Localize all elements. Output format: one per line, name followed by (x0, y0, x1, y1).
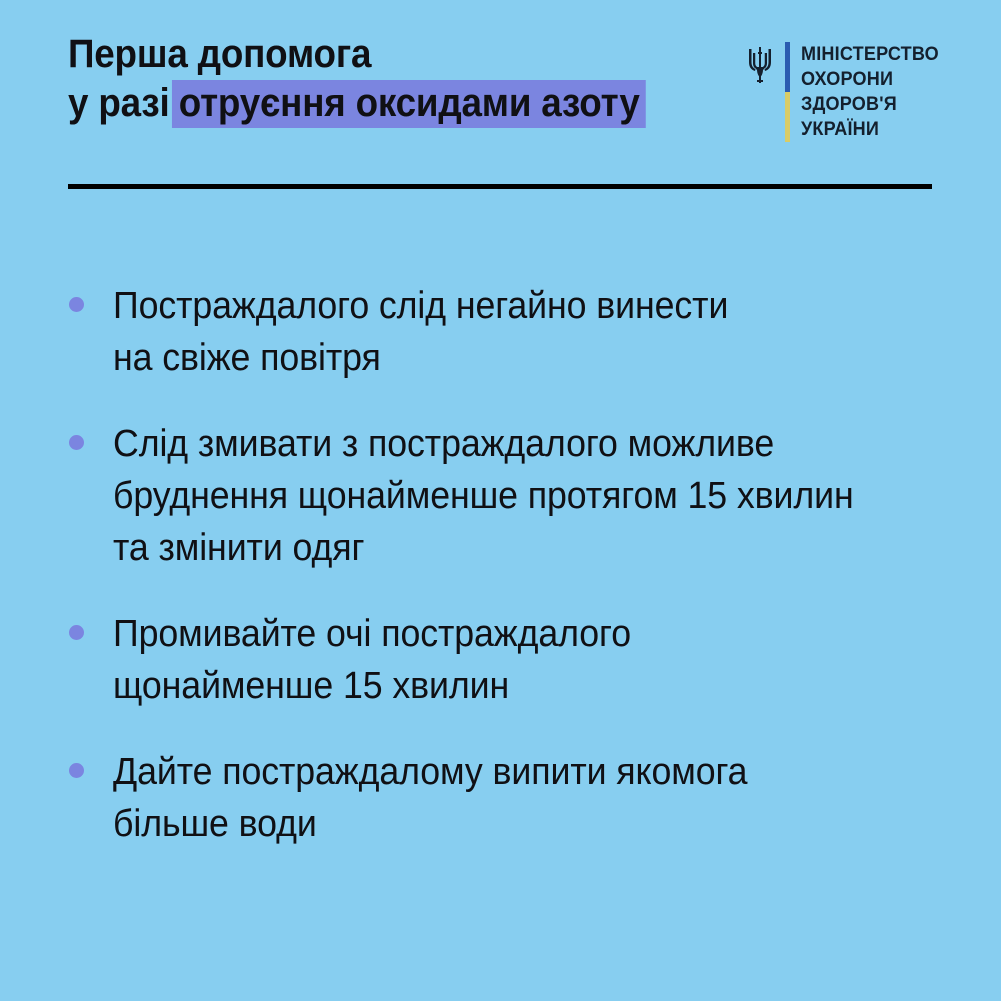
list-item-text: Слід змивати з постраждалого можливе бру… (113, 418, 948, 574)
list-item: Слід змивати з постраждалого можливе бру… (0, 418, 1001, 574)
list-item: Дайте постраждалому випити якомога більш… (0, 746, 1001, 850)
bullet-dot-icon (69, 763, 84, 778)
bullet-dot-icon (69, 435, 84, 450)
advice-list: Постраждалого слід негайно винести на св… (0, 280, 1001, 884)
ministry-name: МІНІСТЕРСТВО ОХОРОНИ ЗДОРОВ'Я УКРАЇНИ (801, 42, 939, 142)
title-line-2: у разіотруєння оксидами азоту (68, 79, 694, 128)
title-line-2-prefix: у разі (68, 81, 170, 125)
page-title: Перша допомога у разіотруєння оксидами а… (68, 30, 748, 128)
ukraine-trident-icon (745, 45, 775, 85)
ministry-logo: МІНІСТЕРСТВО ОХОРОНИ ЗДОРОВ'Я УКРАЇНИ (745, 42, 946, 152)
header-divider (68, 184, 932, 189)
bullet-dot-icon (69, 625, 84, 640)
title-highlight: отруєння оксидами азоту (172, 80, 646, 128)
title-line-1-text: Перша допомога (68, 32, 371, 76)
list-item-text: Промивайте очі постраждалого щонайменше … (113, 608, 948, 712)
list-item-text: Постраждалого слід негайно винести на св… (113, 280, 948, 384)
ministry-name-line-4: УКРАЇНИ (801, 117, 939, 142)
title-line-1: Перша допомога (68, 30, 694, 79)
ministry-name-line-1: МІНІСТЕРСТВО (801, 42, 939, 67)
flag-divider-bar (785, 42, 790, 142)
ministry-name-line-2: ОХОРОНИ (801, 67, 939, 92)
bullet-dot-icon (69, 297, 84, 312)
list-item: Промивайте очі постраждалого щонайменше … (0, 608, 1001, 712)
list-item: Постраждалого слід негайно винести на св… (0, 280, 1001, 384)
header: Перша допомога у разіотруєння оксидами а… (0, 0, 1001, 200)
ministry-name-line-3: ЗДОРОВ'Я (801, 92, 939, 117)
list-item-text: Дайте постраждалому випити якомога більш… (113, 746, 948, 850)
